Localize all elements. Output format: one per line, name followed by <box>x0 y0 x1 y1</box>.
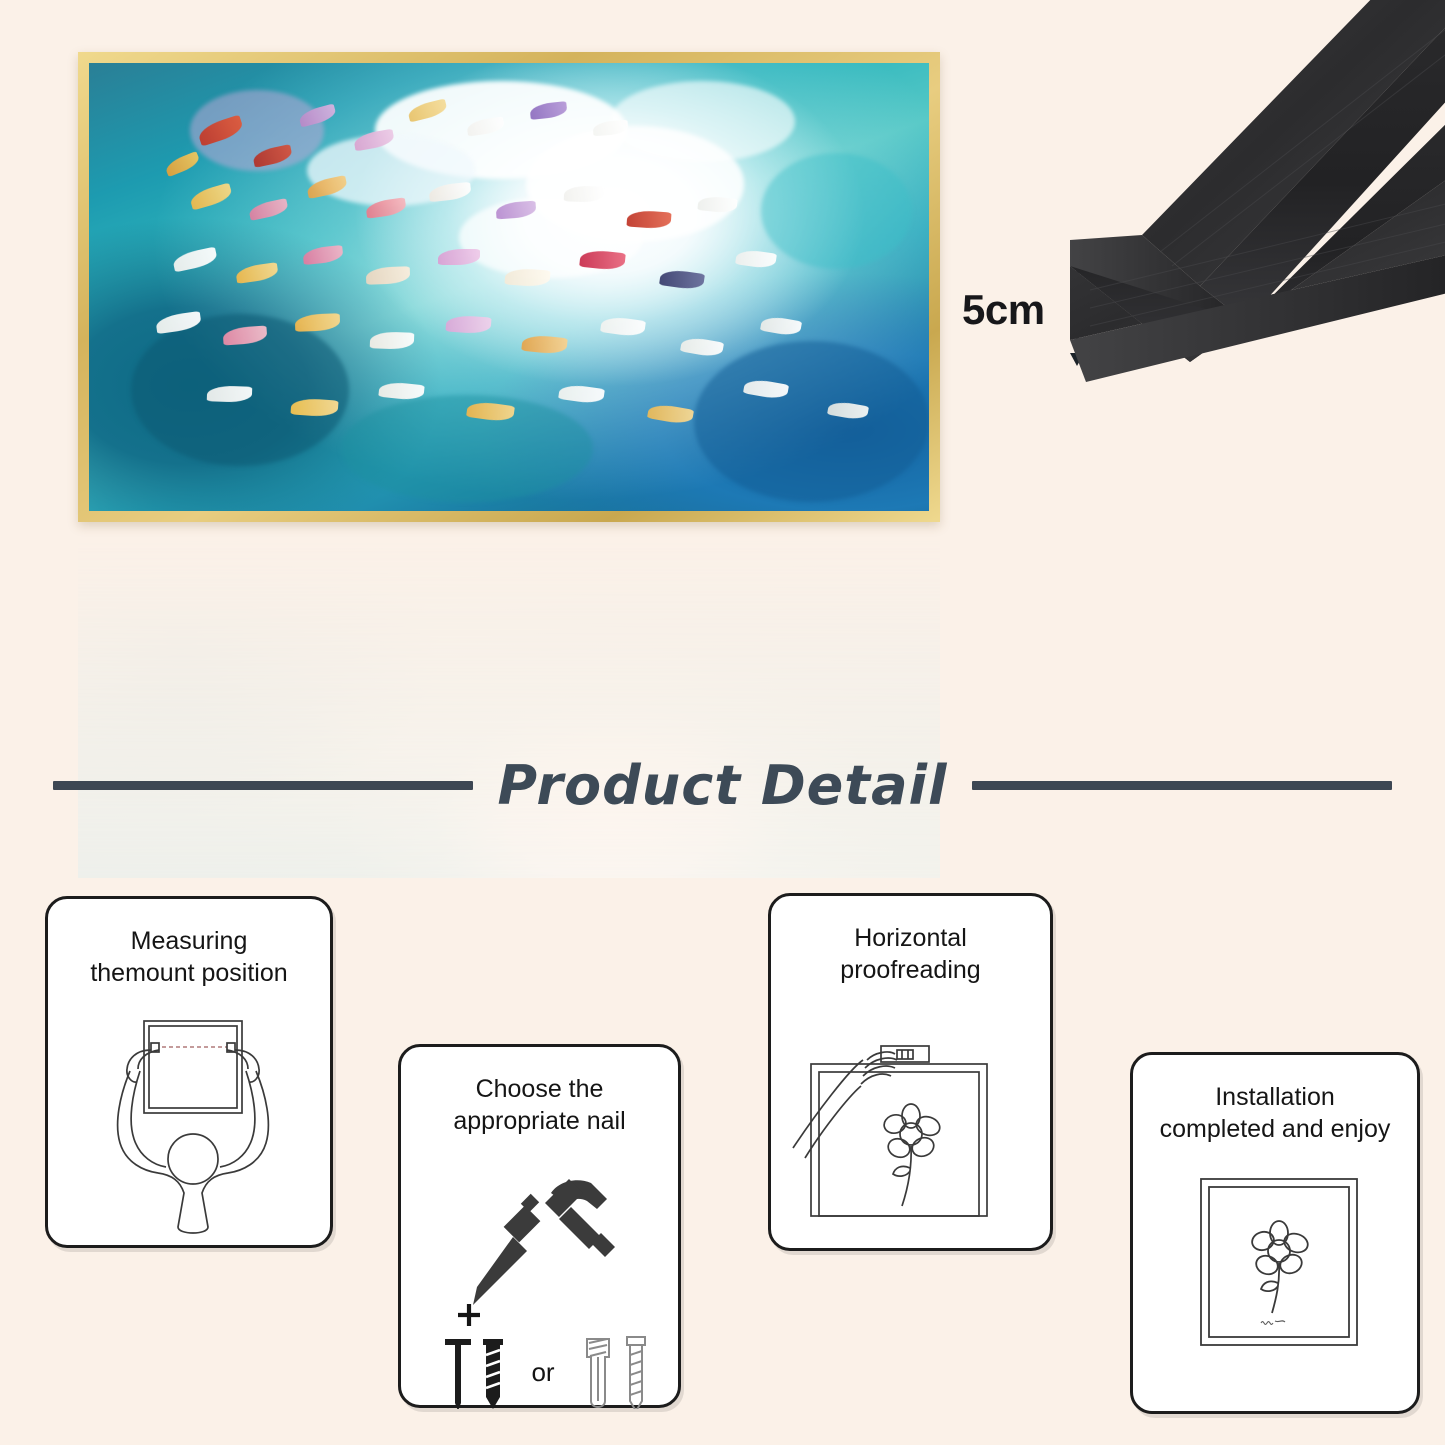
framed-painting <box>78 52 940 522</box>
dimension-label: 5cm <box>962 286 1045 334</box>
step-title: Horizontal proofreading <box>771 896 1050 986</box>
hammer-and-fasteners-icon: or <box>401 1159 684 1409</box>
hung-framed-flower-picture-icon <box>1133 1163 1423 1411</box>
person-holding-frame-overhead-icon <box>48 1003 336 1243</box>
or-label: or <box>531 1357 554 1387</box>
step-card-choose-nail[interactable]: Choose the appropriate nail <box>398 1044 681 1408</box>
step-title: Installation completed and enjoy <box>1133 1055 1417 1145</box>
step-card-measuring[interactable]: Measuring themount position <box>45 896 333 1248</box>
product-detail-heading: Product Detail <box>0 740 1445 830</box>
heading-rule-right <box>972 781 1392 790</box>
hand-with-spirit-level-on-frame-icon <box>771 1016 1056 1246</box>
painting-canvas <box>89 63 929 511</box>
step-title: Measuring themount position <box>48 899 330 989</box>
page-title: Product Detail <box>497 754 947 817</box>
heading-rule-left <box>53 781 473 790</box>
step-card-installation-completed[interactable]: Installation completed and enjoy <box>1130 1052 1420 1414</box>
step-card-horizontal-proofreading[interactable]: Horizontal proofreading <box>768 893 1053 1251</box>
black-wood-frame-corner <box>1050 0 1445 560</box>
painting-brushwork <box>89 63 929 511</box>
step-title: Choose the appropriate nail <box>401 1047 678 1137</box>
